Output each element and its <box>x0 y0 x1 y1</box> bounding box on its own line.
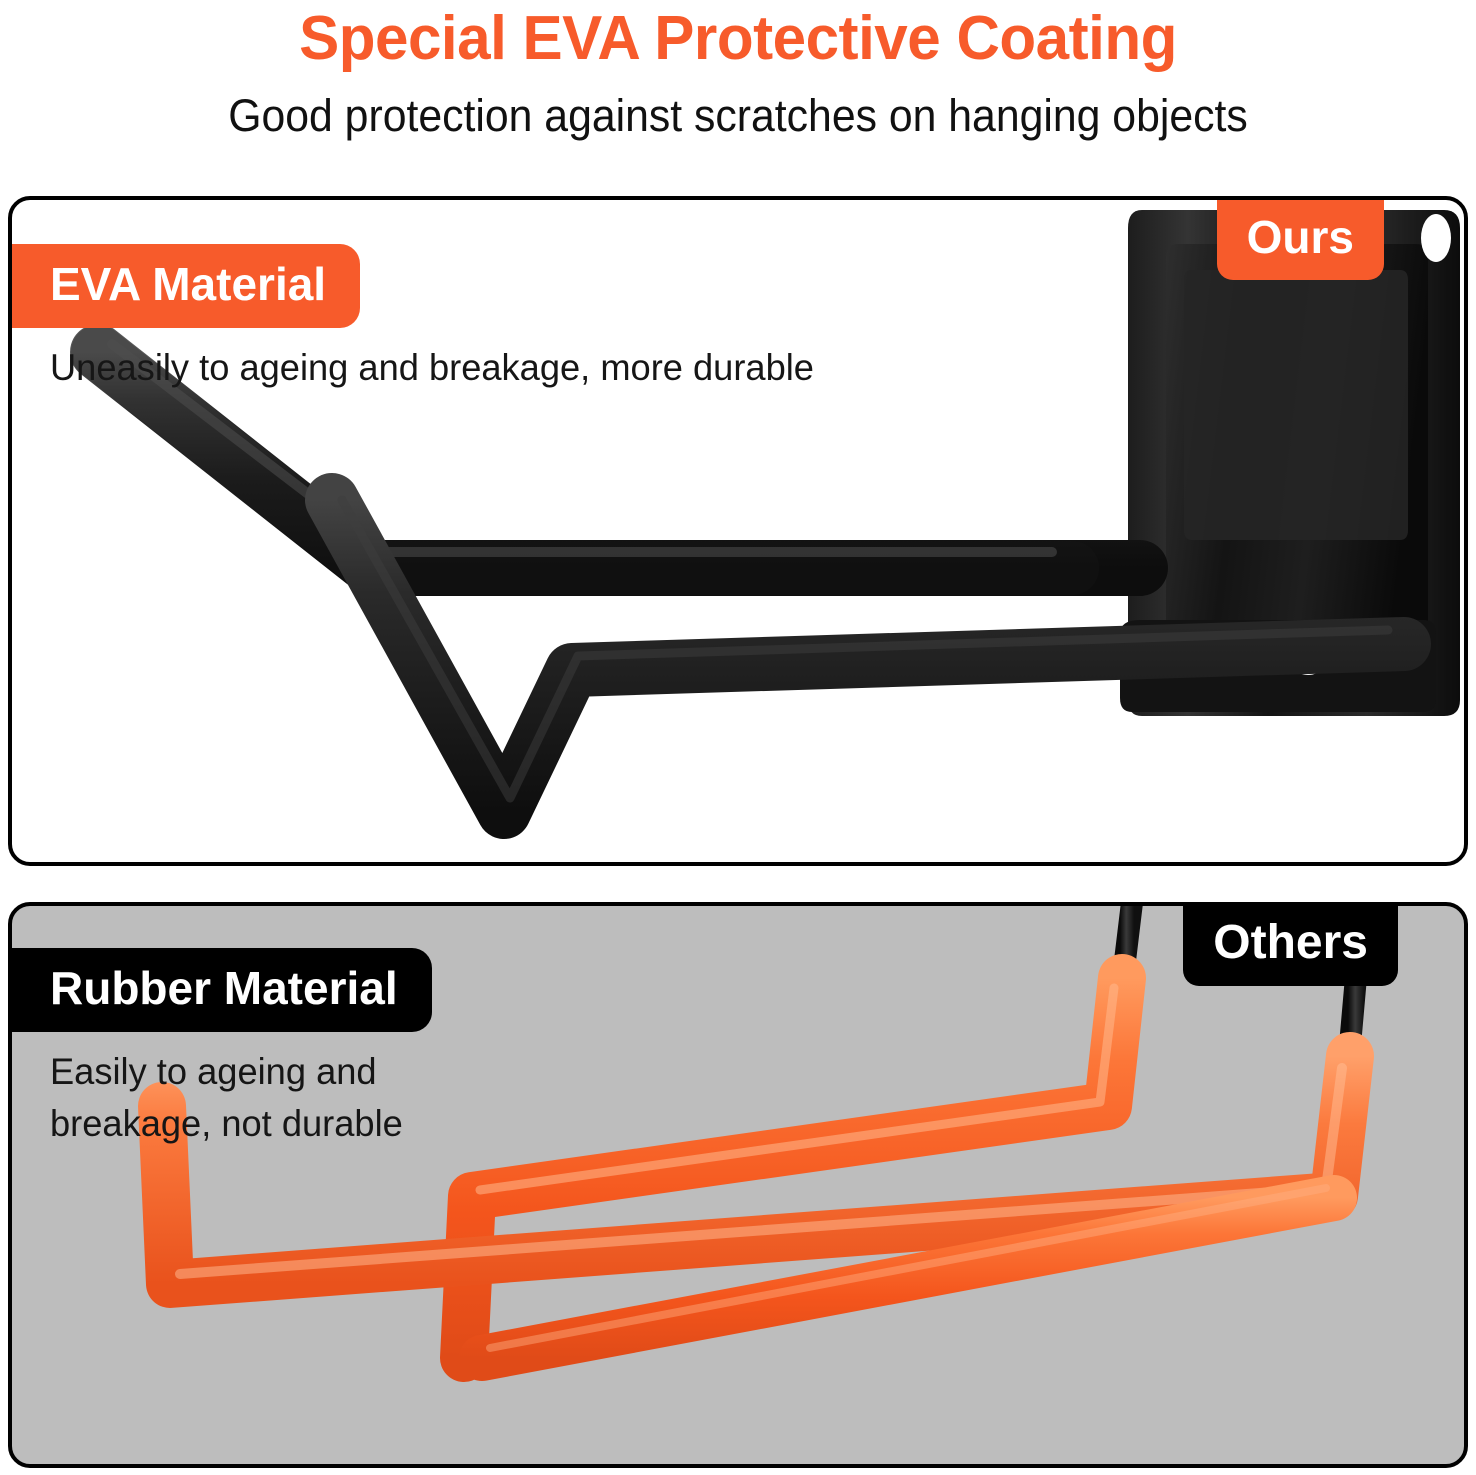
header: Special EVA Protective Coating Good prot… <box>0 0 1476 144</box>
badge-others: Others <box>1183 906 1398 986</box>
badge-rubber-material: Rubber Material <box>12 948 432 1032</box>
description-others: Easily to ageing and breakage, not durab… <box>50 1046 462 1150</box>
badge-eva-material: EVA Material <box>12 244 360 328</box>
description-ours: Uneasily to ageing and breakage, more du… <box>50 342 814 394</box>
comparison-panel-others: Others Rubber Material Easily to ageing … <box>8 902 1468 1468</box>
comparison-panel-ours: Ours EVA Material Uneasily to ageing and… <box>8 196 1468 866</box>
page-subtitle: Good protection against scratches on han… <box>37 88 1439 144</box>
page-title: Special EVA Protective Coating <box>22 4 1454 74</box>
badge-ours: Ours <box>1217 200 1384 280</box>
